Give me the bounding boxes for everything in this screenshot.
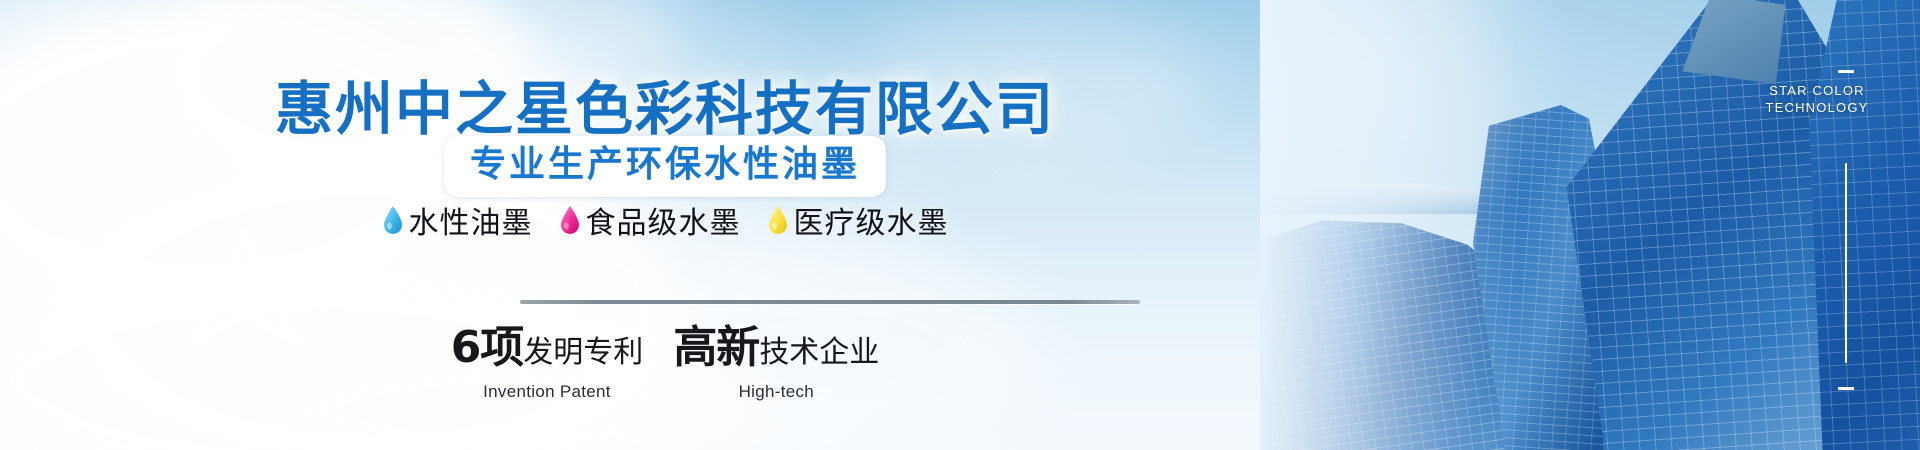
- building-signage: STAR COLOR TECHNOLOGY: [1752, 82, 1882, 116]
- sign-vertical-line-icon: [1845, 163, 1847, 363]
- tagline-text: 专业生产环保水性油墨: [470, 143, 860, 187]
- promotional-banner: Star Color STAR COLOR TECHNOLOGY 惠州中之星色彩…: [0, 0, 1920, 450]
- badge-suffix: 发明专利: [523, 335, 643, 370]
- water-drop-icon: [382, 205, 404, 235]
- list-item: 医疗级水墨: [767, 198, 949, 242]
- sign-tick-bottom-icon: [1838, 387, 1854, 390]
- list-item: 高新技术企业 High-tech: [673, 326, 879, 402]
- ink-type-label: 水性油墨: [409, 198, 533, 242]
- building-signage-line2: TECHNOLOGY: [1752, 99, 1882, 116]
- badge-chinese-text: 高新技术企业: [673, 326, 879, 379]
- banner-content: 惠州中之星色彩科技有限公司 专业生产环保水性油墨 水性油墨: [0, 0, 1330, 450]
- badge-suffix: 技术企业: [759, 335, 879, 370]
- ink-type-label: 食品级水墨: [586, 198, 741, 242]
- badge-prefix: 6项: [451, 322, 524, 373]
- ink-types-list: 水性油墨 食品级水墨: [0, 198, 1330, 242]
- badge-chinese-text: 6项发明专利: [451, 326, 644, 379]
- badge-english-text: Invention Patent: [451, 382, 644, 402]
- section-divider: [520, 300, 1140, 304]
- list-item: 食品级水墨: [559, 198, 741, 242]
- sign-tick-top-icon: [1838, 70, 1854, 73]
- badge-prefix: 高新: [673, 322, 759, 373]
- list-item: 水性油墨: [382, 198, 533, 242]
- credentials-list: 6项发明专利 Invention Patent 高新技术企业 High-tech: [0, 326, 1330, 402]
- company-title: 惠州中之星色彩科技有限公司: [0, 62, 1330, 146]
- skyscraper-photo: [1260, 0, 1920, 450]
- building-signage-line1: STAR COLOR: [1752, 82, 1882, 99]
- tagline-pill-wrapper: 专业生产环保水性油墨: [0, 136, 1330, 197]
- water-drop-icon: [767, 205, 789, 235]
- badge-english-text: High-tech: [673, 382, 879, 402]
- water-drop-icon: [559, 205, 581, 235]
- list-item: 6项发明专利 Invention Patent: [451, 326, 644, 402]
- ink-type-label: 医疗级水墨: [794, 198, 949, 242]
- tagline-pill: 专业生产环保水性油墨: [444, 136, 886, 197]
